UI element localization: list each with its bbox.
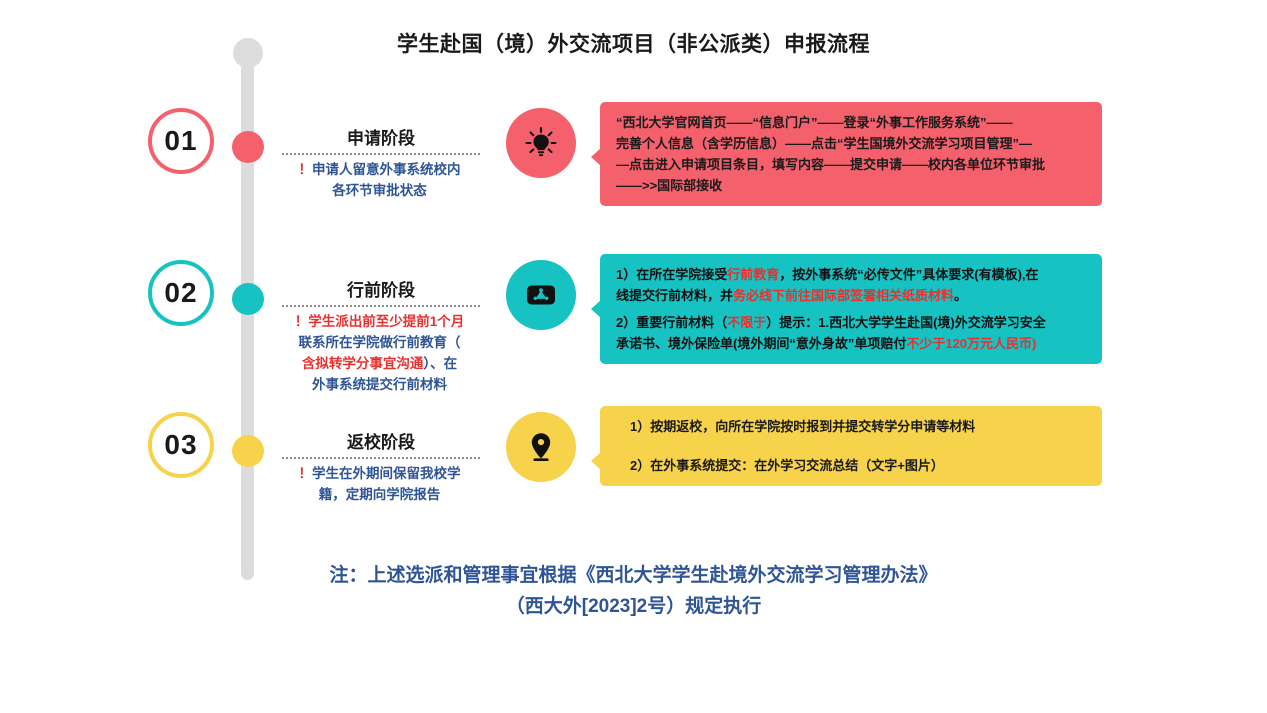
- lightbulb-icon: [524, 126, 558, 160]
- timeline-dot-01: [232, 131, 264, 163]
- stage-note-line-03-2: 籍，定期向学院报告: [319, 487, 441, 502]
- bubble-02-seg-11: 不少于120万元人民币): [906, 336, 1036, 351]
- page-title: 学生赴国（境）外交流项目（非公派类）申报流程: [0, 28, 1267, 58]
- bubble-02-seg-2: 行前教育: [727, 267, 779, 282]
- bubble-02-seg-9: ）提示：1.西北大学学生赴国(境)外交流学习安全: [766, 315, 1046, 330]
- stage-note-line-02-2: 联系所在学院做行前教育（: [299, 335, 461, 350]
- bubble-02-seg-10: 承诺书、境外保险单(境外期间“意外身故”单项赔付: [616, 336, 906, 351]
- stage-number-02: 02: [164, 279, 197, 307]
- timeline-dot-03: [232, 435, 264, 467]
- bubble-02-seg-1: 1）在所在学院接受: [616, 267, 727, 282]
- stage-bubble-02: 1）在所在学院接受行前教育，按外事系统“必传文件”具体要求(有模板),在 线提交…: [600, 254, 1102, 364]
- stage-divider-02: [282, 305, 480, 307]
- bubble-03-para-1: 1）按期返校，向所在学院按时报到并提交转学分申请等材料: [616, 416, 1088, 437]
- stage-header-02: 行前阶段: [282, 280, 480, 307]
- timeline-dot-02: [232, 283, 264, 315]
- bubble-02-seg-8: 不限于: [727, 315, 766, 330]
- stage-icon-circle-03: [506, 412, 576, 482]
- stage-note-line-01-1: 申请人留意外事系统校内: [312, 162, 461, 177]
- bubble-02-seg-5: 务必线下前往国际部签署相关纸质材料: [733, 288, 954, 303]
- bubble-02-seg-3: ，按外事系统“必传文件”具体要求(有模板),在: [779, 267, 1038, 282]
- stage-note-line-03-1: 学生在外期间保留我校学: [312, 466, 461, 481]
- bubble-02-seg-7: 2）重要行前材料（: [616, 315, 727, 330]
- stage-note-line-02-5: 外事系统提交行前材料: [312, 377, 447, 392]
- stage-title-03: 返校阶段: [282, 432, 480, 454]
- bubble-02-seg-4: 线提交行前材料，并: [616, 288, 733, 303]
- bubble-02-seg-6: 。: [954, 288, 967, 303]
- stage-icon-circle-01: [506, 108, 576, 178]
- stage-icon-circle-02: [506, 260, 576, 330]
- stage-note-line-02-4: ）、在: [423, 356, 457, 371]
- stage-divider-03: [282, 457, 480, 459]
- stage-note-bang-01: ！: [299, 162, 313, 177]
- stage-number-03: 03: [164, 431, 197, 459]
- stage-title-01: 申请阶段: [282, 128, 480, 150]
- stage-header-03: 返校阶段: [282, 432, 480, 459]
- flowchart-canvas: 学生赴国（境）外交流项目（非公派类）申报流程 01 申请阶段 ！申请人留意外事系…: [0, 0, 1267, 713]
- location-pin-icon: [524, 430, 558, 464]
- stage-divider-01: [282, 153, 480, 155]
- stage-note-bang-02: ！: [295, 314, 309, 329]
- bubble-01-line-4: ——>>国际部接收: [616, 175, 1088, 196]
- stage-number-badge-01: 01: [148, 108, 214, 174]
- bubble-01-line-1: “西北大学官网首页——“信息门户”——登录“外事工作服务系统”——: [616, 112, 1088, 133]
- stage-number-badge-02: 02: [148, 260, 214, 326]
- stage-number-badge-03: 03: [148, 412, 214, 478]
- footer-line-2: （西大外[2023]2号）规定执行: [0, 591, 1267, 622]
- stage-header-01: 申请阶段: [282, 128, 480, 155]
- bubble-03-para-2: 2）在外事系统提交：在外学习交流总结（文字+图片）: [616, 455, 1088, 476]
- vr-goggles-icon: [524, 278, 558, 312]
- stage-number-01: 01: [164, 127, 197, 155]
- stage-note-02: ！学生派出前至少提前1个月 联系所在学院做行前教育（ 含拟转学分事宜沟通）、在 …: [272, 312, 487, 396]
- stage-note-line-02-3: 含拟转学分事宜沟通: [302, 356, 424, 371]
- stage-bubble-01: “西北大学官网首页——“信息门户”——登录“外事工作服务系统”—— 完善个人信息…: [600, 102, 1102, 206]
- footer-line-1: 注：上述选派和管理事宜根据《西北大学学生赴境外交流学习管理办法》: [0, 560, 1267, 591]
- bubble-02-para-2: 2）重要行前材料（不限于）提示：1.西北大学学生赴国(境)外交流学习安全 承诺书…: [616, 312, 1088, 354]
- stage-note-line-02-1: 学生派出前至少提前1个月: [308, 314, 464, 329]
- stage-note-bang-03: ！: [299, 466, 313, 481]
- bubble-02-para-1: 1）在所在学院接受行前教育，按外事系统“必传文件”具体要求(有模板),在 线提交…: [616, 264, 1088, 306]
- stage-note-03: ！学生在外期间保留我校学 籍，定期向学院报告: [272, 464, 487, 506]
- stage-bubble-03: 1）按期返校，向所在学院按时报到并提交转学分申请等材料 2）在外事系统提交：在外…: [600, 406, 1102, 486]
- stage-note-01: ！申请人留意外事系统校内 各环节审批状态: [272, 160, 487, 202]
- stage-title-02: 行前阶段: [282, 280, 480, 302]
- bubble-01-line-3: —点击进入申请项目条目，填写内容——提交申请——校内各单位环节审批: [616, 154, 1088, 175]
- footer-note: 注：上述选派和管理事宜根据《西北大学学生赴境外交流学习管理办法》 （西大外[20…: [0, 560, 1267, 623]
- stage-note-line-01-2: 各环节审批状态: [332, 183, 427, 198]
- bubble-01-line-2: 完善个人信息（含学历信息）——点击“学生国境外交流学习项目管理”—: [616, 133, 1088, 154]
